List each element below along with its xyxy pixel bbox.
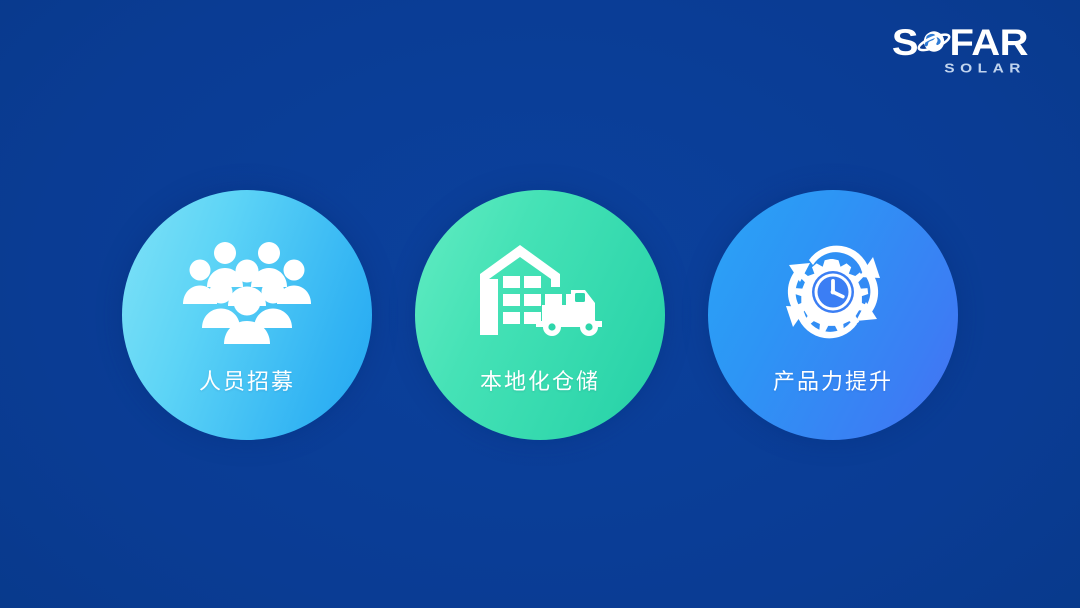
gear-clock-cycle-icon (768, 238, 898, 346)
warehouse-truck-icon (475, 238, 605, 346)
planet-globe-icon (917, 26, 951, 60)
logo-letter-s: S (892, 27, 918, 58)
sofar-solar-logo: S FAR SOLAR (852, 26, 1028, 84)
feature-circles-row: 人员招募 (0, 190, 1080, 440)
feature-circle-label: 人员招募 (199, 364, 295, 396)
feature-circle-localized-warehousing[interactable]: 本地化仓储 (415, 190, 665, 440)
logo-letters-far: FAR (950, 27, 1029, 58)
logo-wordmark: S FAR (892, 26, 1028, 60)
feature-circle-label: 产品力提升 (773, 364, 893, 396)
feature-circle-label: 本地化仓储 (480, 364, 600, 396)
feature-circle-personnel-recruitment[interactable]: 人员招募 (122, 190, 372, 440)
logo-subtitle: SOLAR (944, 62, 1026, 76)
feature-circle-product-capability-upgrade[interactable]: 产品力提升 (708, 190, 958, 440)
people-group-icon (182, 238, 312, 346)
slide-canvas: S FAR SOLAR (0, 0, 1080, 608)
